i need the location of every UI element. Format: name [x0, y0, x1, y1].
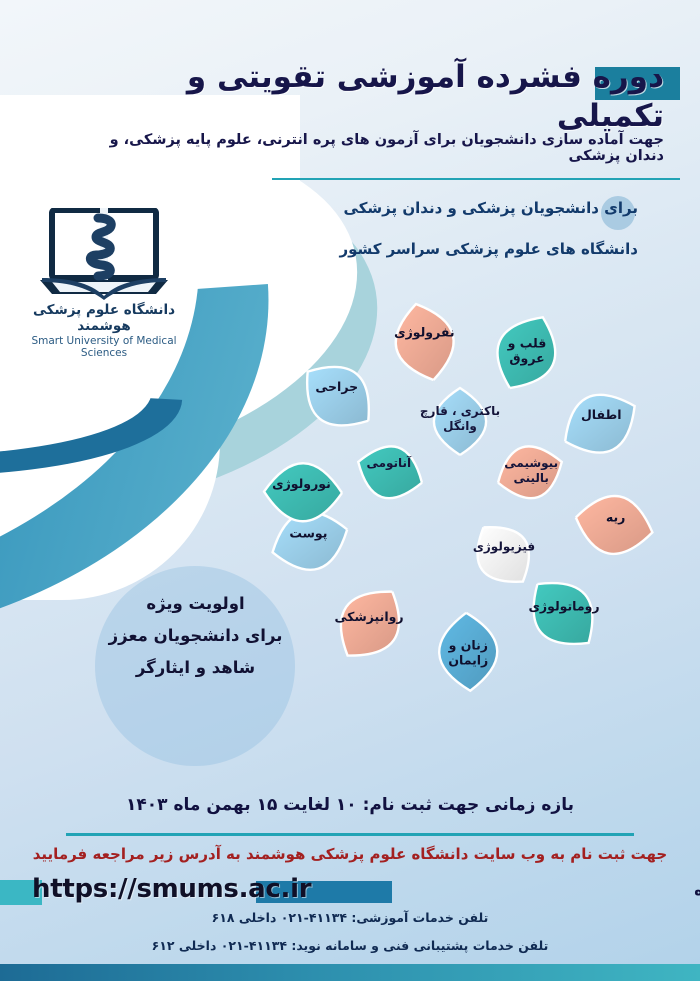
- phone-support: تلفن خدمات پشتیبانی فنی و سامانه نوید: ۴…: [40, 938, 660, 953]
- website-url[interactable]: https://smums.ac.ir: [32, 874, 311, 904]
- petal-shape: [534, 583, 593, 644]
- page-title: دوره فشرده آموزشی تقویتی و تکمیلی: [130, 58, 664, 136]
- petal-shape: [576, 496, 653, 554]
- petal-shape: [565, 395, 634, 453]
- petal-shape: [358, 446, 422, 498]
- petal-shape: [434, 388, 486, 455]
- audience-line-1: برای دانشجویان پزشکی و دندان پزشکی: [200, 199, 638, 217]
- petal-shape: [477, 527, 528, 582]
- phone-education: تلفن خدمات آموزشی: ۴۱۱۳۴-۰۲۱ داخلی ۶۱۸: [40, 910, 660, 925]
- diagram-center-label: علوم پایه و پره انترنی: [685, 879, 700, 924]
- laptop-caduceus-logo-icon: [18, 208, 190, 300]
- petal-shape: [498, 446, 562, 498]
- specialties-petal-diagram: نفرولوژیقلب و عروقاطفالریهروماتولوژیزنان…: [250, 285, 670, 705]
- petal-shape: [264, 463, 342, 521]
- petal-shape: [341, 592, 399, 656]
- logo-name-fa: دانشگاه علوم پزشکی هوشمند: [18, 302, 190, 334]
- university-logo: دانشگاه علوم پزشکی هوشمند Smart Universi…: [18, 208, 190, 359]
- petal-shape: [307, 367, 369, 425]
- audience-line-2: دانشگاه های علوم پزشکی سراسر کشور: [200, 240, 638, 258]
- logo-name-en: Smart University of Medical Sciences: [18, 335, 190, 359]
- registration-period: بازه زمانی جهت ثبت نام: ۱۰ لغایت ۱۵ بهمن…: [40, 795, 660, 815]
- petal-shape: [396, 304, 454, 380]
- poster-canvas: دوره فشرده آموزشی تقویتی و تکمیلی جهت آم…: [0, 0, 700, 981]
- petal-shape: [439, 613, 497, 691]
- petal-shape: [497, 317, 555, 388]
- registration-note: جهت ثبت نام به وب سایت دانشگاه علوم پزشک…: [30, 845, 670, 863]
- page-subtitle: جهت آماده سازی دانشجویان برای آزمون های …: [90, 132, 664, 164]
- bottom-gradient-bar: [0, 964, 700, 981]
- footer-divider: [66, 833, 634, 836]
- header-divider: [272, 178, 680, 180]
